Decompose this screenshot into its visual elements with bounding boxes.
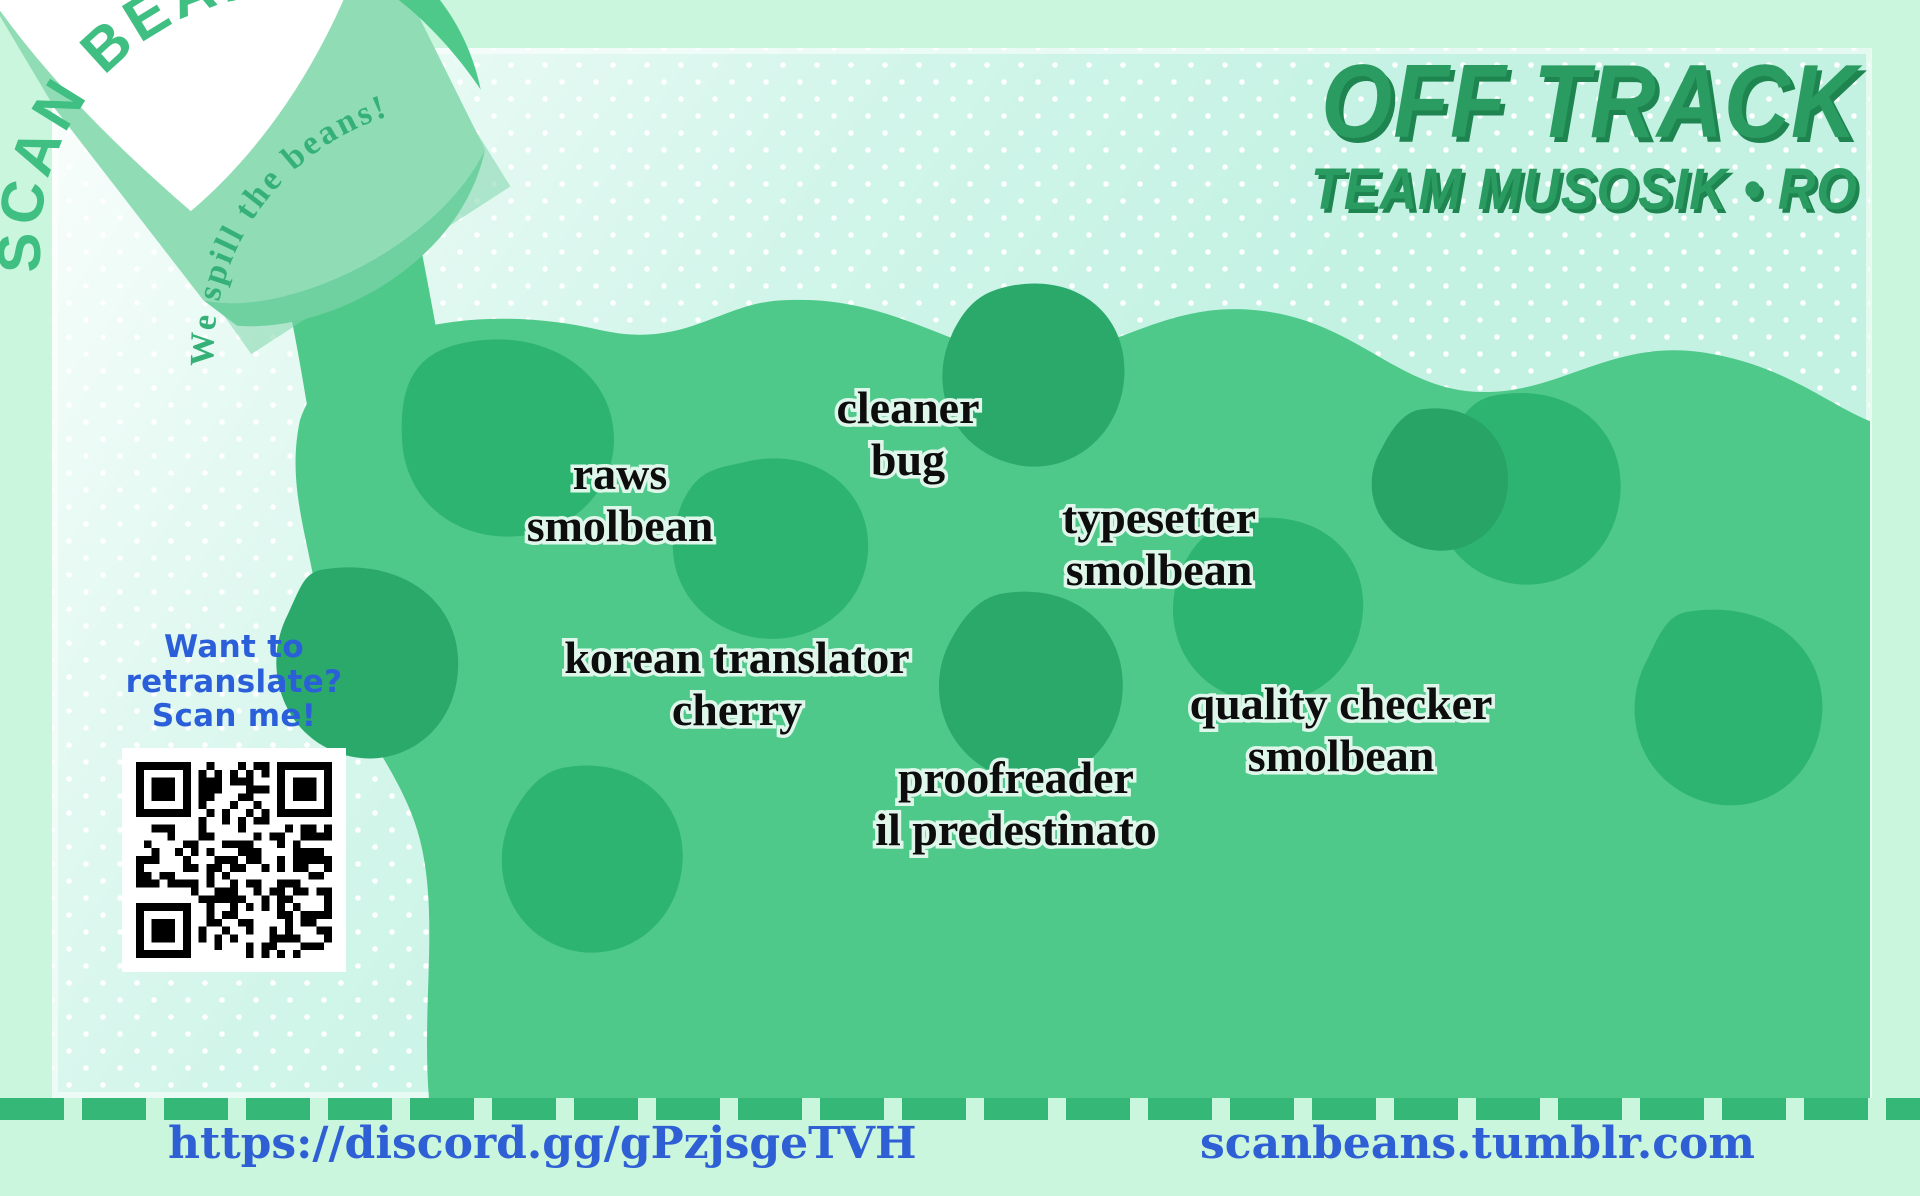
dashed-divider (0, 1098, 1920, 1120)
tumblr-link[interactable]: scanbeans.tumblr.com (1200, 1118, 1755, 1169)
qr-block: Want to retranslate? Scan me! (104, 630, 364, 972)
credit-name: cherry (564, 684, 909, 736)
qr-prompt-text: Want to retranslate? Scan me! (104, 630, 364, 734)
credits-card: OFF TRACK TEAM MUSOSIK • RO SCAN BEANS (0, 0, 1920, 1196)
credit-role: korean translator (564, 632, 909, 684)
credit-role: typesetter (1062, 492, 1256, 544)
page-subtitle: TEAM MUSOSIK • RO (1309, 160, 1858, 221)
discord-link[interactable]: https://discord.gg/gPzjsgeTVH (168, 1118, 917, 1169)
header-block: OFF TRACK TEAM MUSOSIK • RO (1248, 52, 1858, 221)
page-title: OFF TRACK (1321, 52, 1858, 154)
footer: https://discord.gg/gPzjsgeTVH scanbeans.… (0, 1118, 1920, 1196)
credit-role: quality checker (1190, 678, 1493, 730)
credit-name: il predestinato (875, 804, 1157, 856)
credit-name: smolbean (1190, 730, 1493, 782)
spilling-cup: SCAN BEANS We spill the beans! (0, 0, 590, 520)
credit-name: smolbean (1062, 544, 1256, 596)
qr-code-icon[interactable] (122, 748, 346, 972)
credit-role: cleaner (836, 382, 979, 434)
credit-role: proofreader (875, 752, 1157, 804)
credit-name: bug (836, 434, 979, 486)
